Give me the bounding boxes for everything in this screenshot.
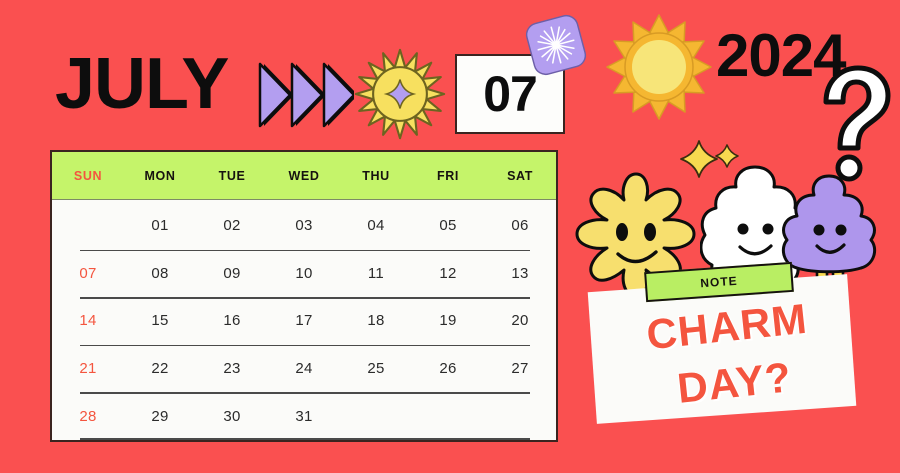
calendar-day-cell[interactable]: 16 [196,312,268,329]
triple-chevron-icon [258,58,354,132]
weekday-wed: WED [268,169,340,183]
calendar-day-cell[interactable]: 03 [268,217,340,234]
poster-canvas: JULY [0,0,900,473]
weekday-mon: MON [124,169,196,183]
sun-icon [604,12,714,122]
calendar-day-cell[interactable]: 12 [412,265,484,282]
calendar-day-cell[interactable]: 28 [52,408,124,425]
calendar-day-cell[interactable]: 08 [124,265,196,282]
calendar-day-cell[interactable]: 17 [268,312,340,329]
calendar-day-cell[interactable]: 21 [52,360,124,377]
calendar-day-cell[interactable]: 11 [340,265,412,282]
calendar-day-cell[interactable]: 27 [484,360,556,377]
date-badge-value: 07 [483,69,537,119]
calendar-day-cell[interactable]: 05 [412,217,484,234]
calendar-day-cell[interactable]: 10 [268,265,340,282]
calendar-week-row: 01 02 03 04 05 06 [52,202,556,250]
weekday-thu: THU [340,169,412,183]
calendar-weekday-header: SUN MON TUE WED THU FRI SAT [52,152,556,200]
calendar-week-row: 14 15 16 17 18 19 20 [52,297,556,345]
note-tag-label: NOTE [700,274,738,291]
calendar-day-cell[interactable]: 02 [196,217,268,234]
weekday-tue: TUE [196,169,268,183]
calendar-grid: 01 02 03 04 05 06 07 08 09 10 11 12 13 1… [52,200,556,440]
calendar-week-row: 28 29 30 31 [52,392,556,440]
sunburst-icon [352,46,448,142]
calendar-day-cell[interactable]: 22 [124,360,196,377]
calendar-day-cell[interactable]: 20 [484,312,556,329]
calendar-day-cell[interactable]: 30 [196,408,268,425]
calendar-week-row: 07 08 09 10 11 12 13 [52,250,556,298]
weekday-fri: FRI [412,169,484,183]
calendar-day-cell[interactable]: 19 [412,312,484,329]
question-mark-icon [812,62,896,186]
calendar-day-cell[interactable]: 18 [340,312,412,329]
calendar-day-cell[interactable]: 14 [52,312,124,329]
calendar-day-cell[interactable]: 23 [196,360,268,377]
calendar-day-cell[interactable]: 07 [52,265,124,282]
weekday-sun: SUN [52,169,124,183]
calendar-day-cell[interactable]: 29 [124,408,196,425]
calendar-card: SUN MON TUE WED THU FRI SAT 01 02 03 04 … [50,150,558,442]
calendar-week-row: 21 22 23 24 25 26 27 [52,345,556,393]
calendar-day-cell[interactable]: 04 [340,217,412,234]
calendar-day-cell[interactable]: 13 [484,265,556,282]
calendar-day-cell[interactable]: 15 [124,312,196,329]
calendar-day-cell[interactable]: 24 [268,360,340,377]
weekday-sat: SAT [484,169,556,183]
calendar-day-cell[interactable]: 31 [268,408,340,425]
calendar-day-cell[interactable]: 26 [412,360,484,377]
calendar-day-cell[interactable]: 01 [124,217,196,234]
calendar-day-cell[interactable]: 06 [484,217,556,234]
page-title: JULY [55,48,228,120]
calendar-day-cell[interactable]: 25 [340,360,412,377]
calendar-day-cell[interactable]: 09 [196,265,268,282]
